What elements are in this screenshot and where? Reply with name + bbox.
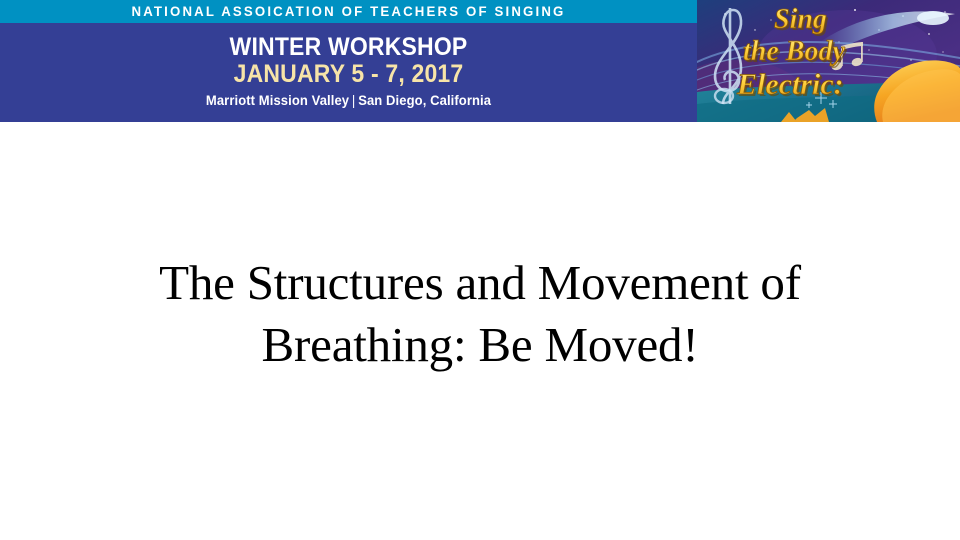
- logo-line3: Electric:: [736, 68, 844, 101]
- slide-title: The Structures and Movement of Breathing…: [60, 252, 900, 376]
- logo-artwork: Sing Sing the Body the Body Electric: El…: [697, 0, 960, 122]
- venue-separator: |: [349, 92, 358, 108]
- event-dates: JANUARY 5 - 7, 2017: [28, 60, 669, 89]
- slide-title-line-2: Breathing: Be Moved!: [60, 314, 900, 376]
- slide-header-banner: NATIONAL ASSOICATION OF TEACHERS OF SING…: [0, 0, 960, 122]
- sing-the-body-electric-logo: Sing Sing the Body the Body Electric: El…: [697, 0, 960, 122]
- event-name: WINTER WORKSHOP: [28, 33, 669, 62]
- venue-name: Marriott Mission Valley: [206, 92, 349, 108]
- event-info-block: WINTER WORKSHOP JANUARY 5 - 7, 2017 Marr…: [0, 23, 697, 122]
- logo-line2: the Body: [743, 36, 845, 67]
- logo-line1: Sing: [774, 4, 827, 35]
- presentation-slide: NATIONAL ASSOICATION OF TEACHERS OF SING…: [0, 0, 960, 540]
- slide-title-line-1: The Structures and Movement of: [60, 252, 900, 314]
- venue-city: San Diego, California: [358, 92, 491, 108]
- organization-name: NATIONAL ASSOICATION OF TEACHERS OF SING…: [7, 0, 690, 23]
- slide-body: The Structures and Movement of Breathing…: [0, 122, 960, 540]
- header-text-block: NATIONAL ASSOICATION OF TEACHERS OF SING…: [0, 0, 697, 122]
- event-location: Marriott Mission Valley|San Diego, Calif…: [24, 92, 672, 108]
